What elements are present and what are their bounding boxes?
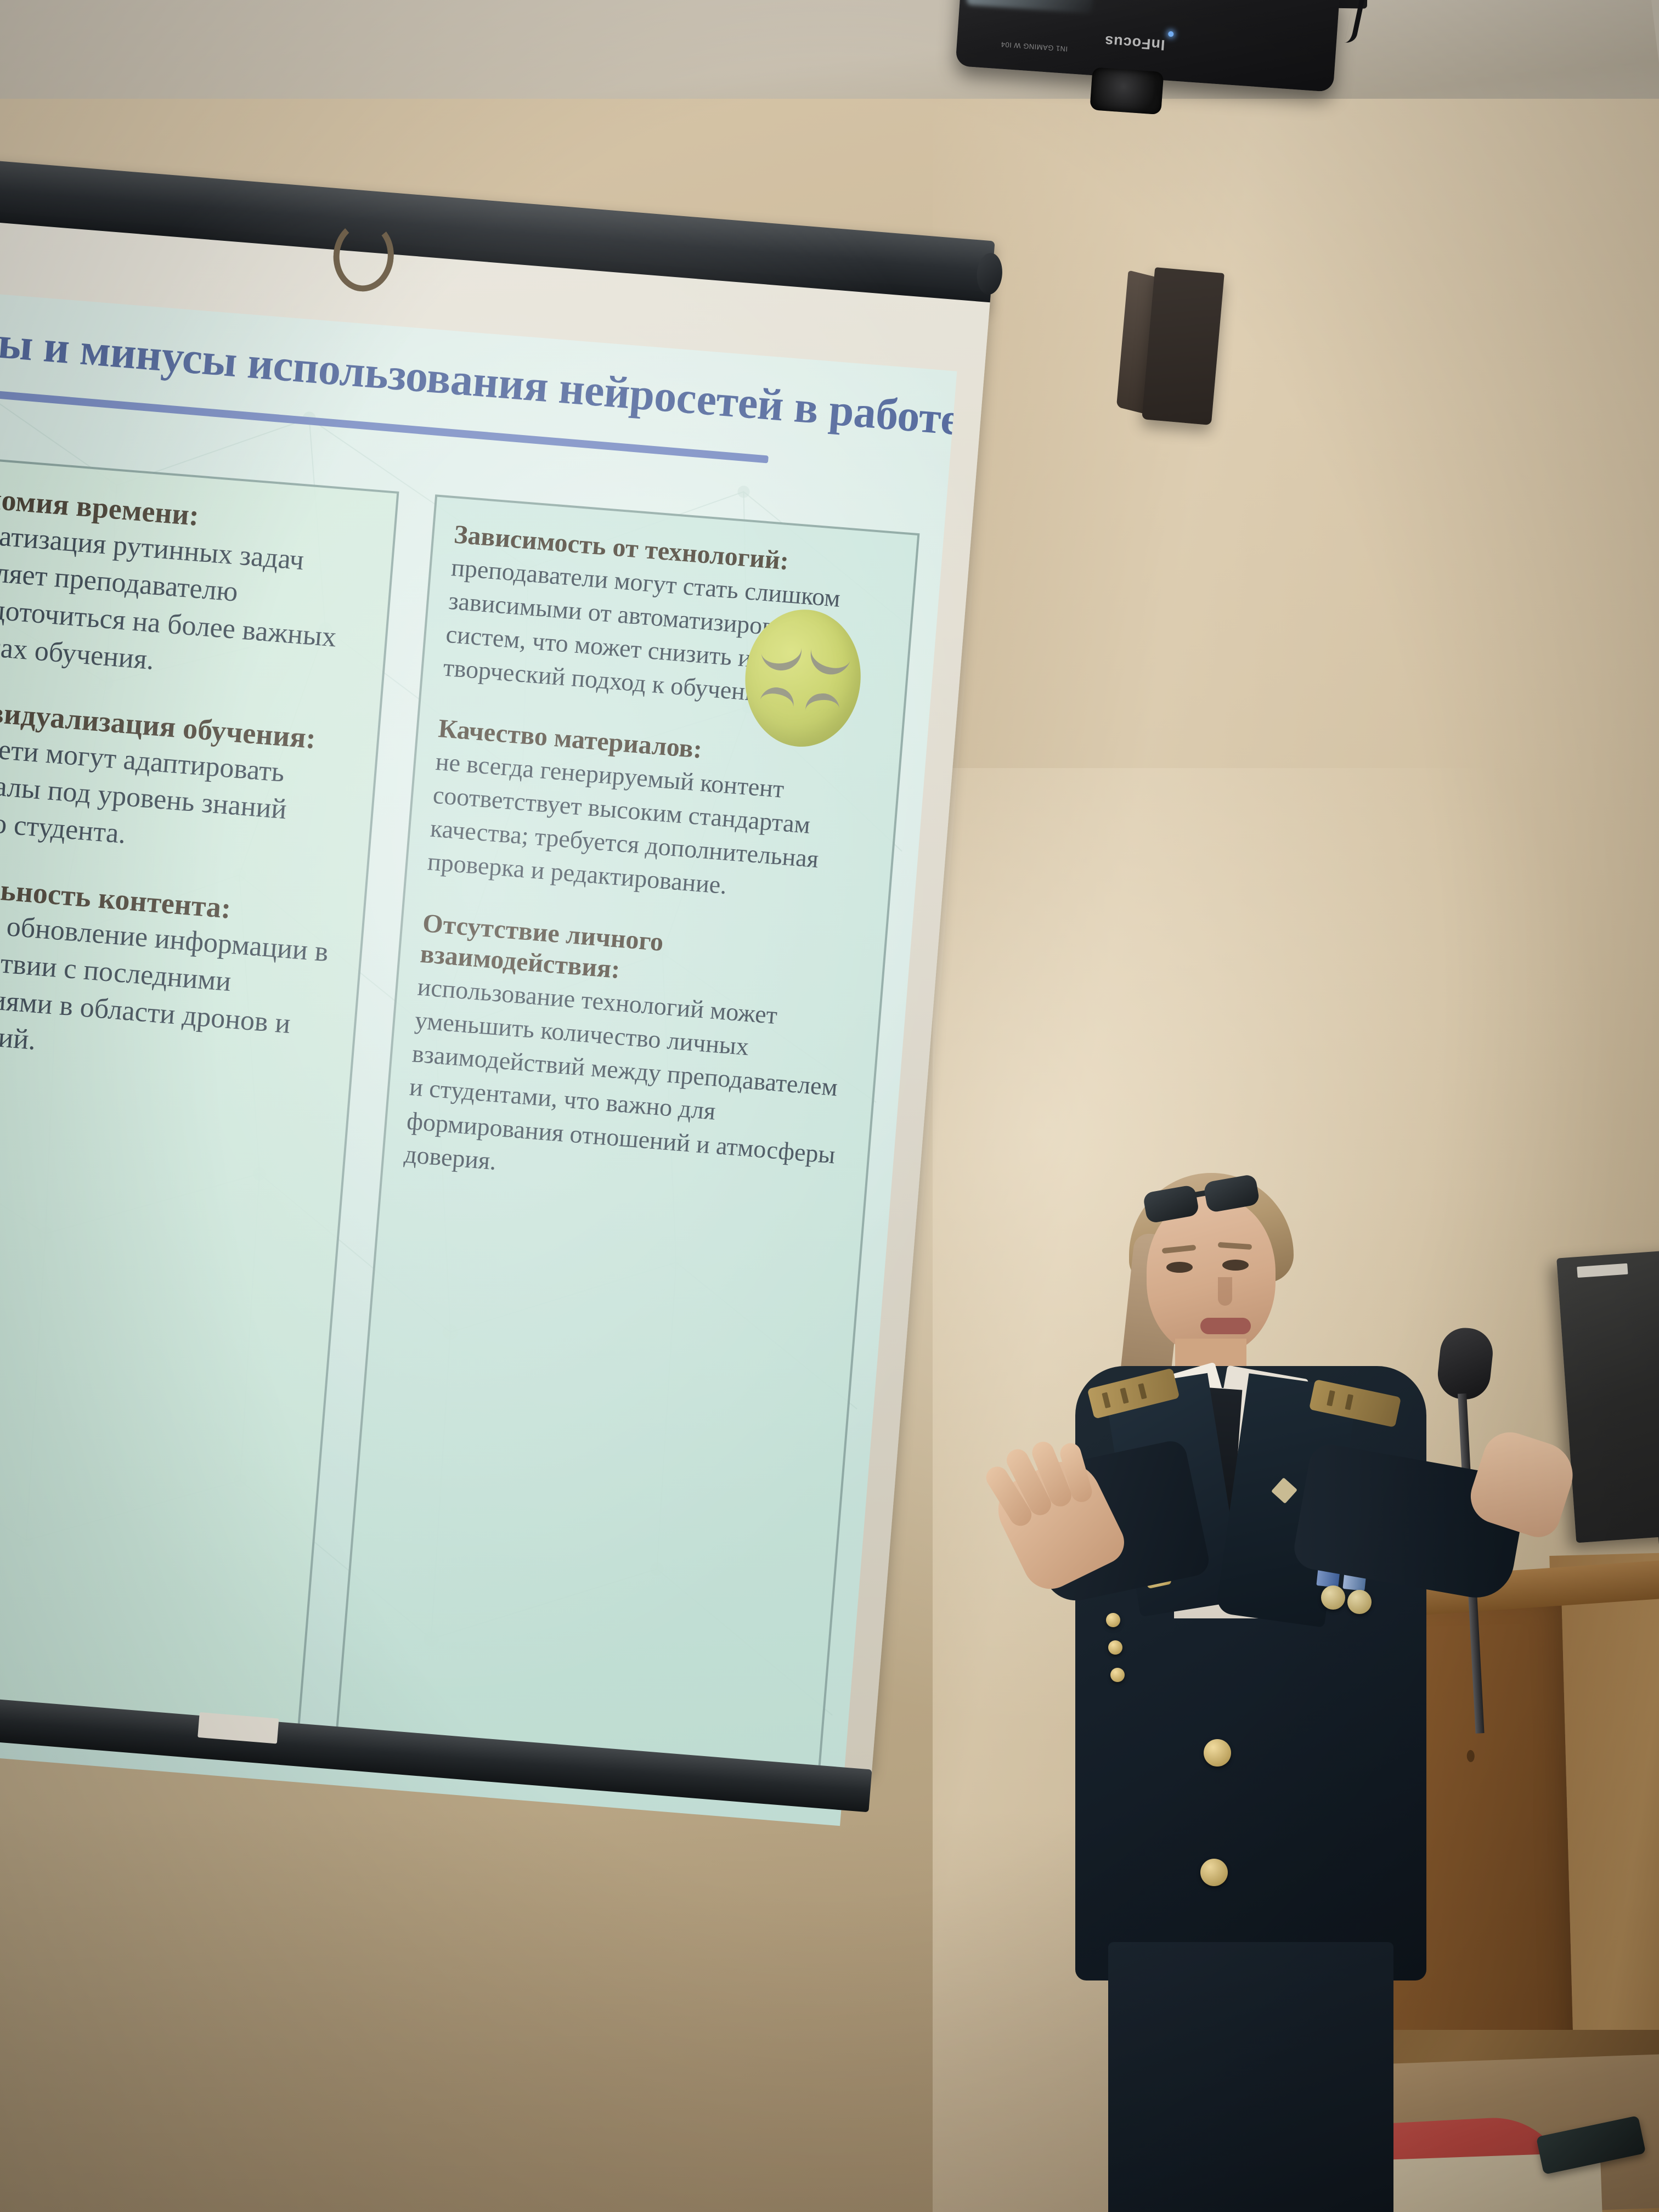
projector-glare [966, 0, 1094, 14]
jacket-button [1204, 1739, 1231, 1767]
cons-point-3: Отсутствие личного взаимодействия: испол… [403, 908, 865, 1206]
rank-stripe [1102, 1392, 1110, 1409]
screen-surface: люсы и минусы использования нейросетей в… [0, 215, 990, 1774]
jacket-button [1200, 1859, 1228, 1886]
emoji-eye-right [806, 647, 851, 679]
speaker-front-grille [1142, 267, 1224, 425]
eye-right [1222, 1260, 1249, 1271]
cuff-button [1108, 1640, 1122, 1655]
nose [1218, 1277, 1232, 1306]
pros-point-3: Актуальность контента: быстрое обновлени… [0, 865, 344, 1083]
projector-model-label: IN1 GAMING W I04 [1001, 40, 1068, 53]
projector-brand-label: InFocus [1104, 32, 1165, 54]
rank-stripe [1327, 1390, 1335, 1406]
projector-lens [1090, 67, 1164, 115]
presenter-in-uniform [982, 1130, 1476, 2212]
power-led-icon [1168, 31, 1174, 37]
pros-point-1: Экономия времени: автоматизация рутинных… [0, 477, 375, 696]
emoji-mouth-right [804, 692, 839, 711]
cons-point-3-body: использование технологий может уменьшить… [403, 973, 839, 1175]
emoji-mouth-left [760, 684, 797, 708]
pros-point-2: Индивидуализация обучения: нейросети мог… [0, 690, 358, 871]
medal [1347, 1590, 1372, 1614]
cuff-button [1110, 1668, 1125, 1682]
eye-left [1166, 1262, 1193, 1273]
rank-stripe [1138, 1383, 1147, 1400]
cons-point-2-body: не всегда генерируемый контент соответст… [427, 747, 820, 900]
cuff-button [1106, 1613, 1120, 1627]
slide-title: люсы и минусы использования нейросетей в… [0, 311, 928, 442]
mouth [1200, 1318, 1251, 1334]
projected-slide: люсы и минусы использования нейросетей в… [0, 286, 957, 1826]
emoji-eye-left [761, 646, 804, 673]
wall-speaker [1115, 265, 1224, 426]
rank-stripe [1345, 1394, 1353, 1410]
pros-panel: Экономия времени: автоматизация рутинных… [0, 453, 399, 1739]
medal [1321, 1585, 1345, 1610]
sunglass-lens-left [1142, 1184, 1199, 1224]
rank-stripe [1120, 1387, 1128, 1404]
uniform-skirt [1108, 1942, 1393, 2212]
pull-down-projector-screen: люсы и минусы использования нейросетей в… [0, 154, 995, 1860]
lecture-hall-photo: InFocus IN1 GAMING W I04 LG [0, 0, 1659, 2212]
display-sticker [1577, 1263, 1628, 1278]
